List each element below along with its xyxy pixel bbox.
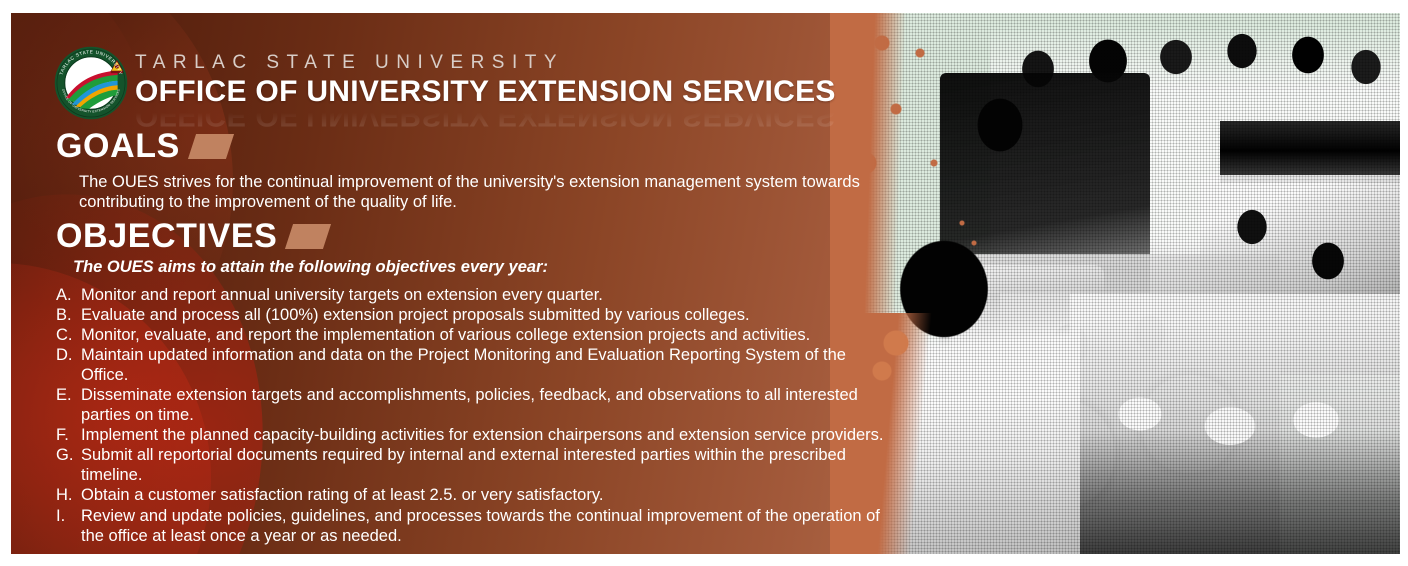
- objective-marker: I.: [56, 506, 75, 546]
- objective-marker: E.: [56, 385, 75, 425]
- objective-item: C.Monitor, evaluate, and report the impl…: [56, 325, 886, 345]
- objectives-accent-parallelogram-icon: [285, 224, 331, 249]
- objective-text: Implement the planned capacity-building …: [81, 425, 886, 445]
- objective-item: H.Obtain a customer satisfaction rating …: [56, 485, 886, 505]
- objectives-list: A.Monitor and report annual university t…: [56, 285, 886, 546]
- objective-text: Review and update policies, guidelines, …: [81, 506, 886, 546]
- objective-item: D.Maintain updated information and data …: [56, 345, 886, 385]
- header-text-block: TARLAC STATE UNIVERSITY OFFICE OF UNIVER…: [135, 53, 836, 132]
- goals-heading-row: GOALS: [56, 129, 230, 163]
- university-name: TARLAC STATE UNIVERSITY: [135, 53, 836, 73]
- objective-item: A.Monitor and report annual university t…: [56, 285, 886, 305]
- objective-text: Monitor and report annual university tar…: [81, 285, 886, 305]
- objective-marker: A.: [56, 285, 75, 305]
- objective-marker: B.: [56, 305, 75, 325]
- objective-text: Submit all reportorial documents require…: [81, 445, 886, 485]
- objective-item: E.Disseminate extension targets and acco…: [56, 385, 886, 425]
- objective-text: Maintain updated information and data on…: [81, 345, 886, 385]
- objective-marker: G.: [56, 445, 75, 485]
- banner-frame: TARLAC STATE UNIVERSITY OFFICE OF UNIVER…: [11, 13, 1400, 554]
- objective-item: G.Submit all reportorial documents requi…: [56, 445, 886, 485]
- goals-heading: GOALS: [56, 129, 180, 163]
- goals-body-text: The OUES strives for the continual impro…: [79, 172, 879, 212]
- objective-text: Disseminate extension targets and accomp…: [81, 385, 886, 425]
- university-seal-logo: TARLAC STATE UNIVERSITY OFFICE OF UNIVER…: [54, 46, 128, 120]
- objectives-lead-text: The OUES aims to attain the following ob…: [73, 258, 893, 278]
- objective-item: I.Review and update policies, guidelines…: [56, 506, 886, 546]
- objectives-heading: OBJECTIVES: [56, 219, 277, 253]
- objectives-heading-row: OBJECTIVES: [56, 219, 327, 253]
- photo-collage: [830, 13, 1400, 554]
- office-name: OFFICE OF UNIVERSITY EXTENSION SERVICES: [135, 75, 836, 109]
- objective-item: B.Evaluate and process all (100%) extens…: [56, 305, 886, 325]
- office-name-reflection: OFFICE OF UNIVERSITY EXTENSION SERVICES: [135, 110, 836, 132]
- objective-marker: D.: [56, 345, 75, 385]
- objective-item: F.Implement the planned capacity-buildin…: [56, 425, 886, 445]
- goals-accent-parallelogram-icon: [188, 134, 234, 159]
- objective-marker: C.: [56, 325, 75, 345]
- objective-text: Monitor, evaluate, and report the implem…: [81, 325, 886, 345]
- objective-text: Obtain a customer satisfaction rating of…: [81, 485, 886, 505]
- objective-marker: H.: [56, 485, 75, 505]
- objective-text: Evaluate and process all (100%) extensio…: [81, 305, 886, 325]
- objective-marker: F.: [56, 425, 75, 445]
